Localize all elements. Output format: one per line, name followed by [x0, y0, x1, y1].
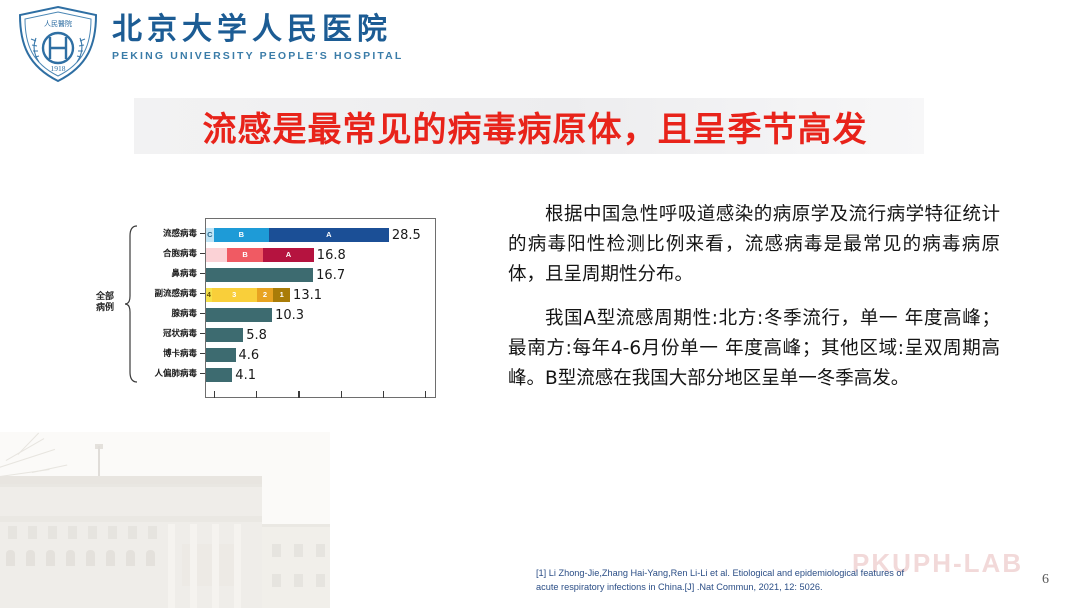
body-paragraph-2: 我国A型流感周期性:北方:冬季流行，单一 年度高峰；最南方:每年4-6月份单一 …: [508, 304, 1000, 394]
chart-bar-segment: B: [214, 228, 269, 242]
chart-bar: BA: [206, 248, 314, 262]
chart-bar: [206, 308, 272, 322]
chart-value-label: 5.8: [246, 328, 267, 343]
body-text-block: 根据中国急性呼吸道感染的病原学及流行病学特征统计的病毒阳性检测比例来看，流感病毒…: [508, 200, 1000, 394]
virus-positivity-bar-chart: 全部 病例 流感病毒 合胞病毒 鼻病毒 副流感病毒 腺病毒 冠状病毒 博卡病毒 …: [88, 218, 436, 406]
page-number: 6: [1042, 572, 1049, 588]
chart-bar-segment: A: [269, 228, 389, 242]
chart-axis-tick: [256, 391, 257, 398]
chart-bar: 4321: [206, 288, 290, 302]
hospital-wordmark: 北京大学人民医院 PEKING UNIVERSITY PEOPLE'S HOSP…: [112, 14, 412, 62]
chart-category-labels: 流感病毒 合胞病毒 鼻病毒 副流感病毒 腺病毒 冠状病毒 博卡病毒 人偏肺病毒: [138, 224, 200, 384]
chart-bar: CBA: [206, 228, 389, 242]
chart-bar-segment: B: [227, 248, 263, 262]
group-brace-icon: [124, 224, 138, 384]
chart-bar-segment: C: [206, 228, 214, 242]
chart-bar: [206, 348, 236, 362]
svg-text:1918: 1918: [51, 64, 66, 73]
chart-bar-segment: 2: [257, 288, 274, 302]
slide-canvas: 人民醫院 1918 北京大学人民医院 PEKING UNIVERSITY PEO…: [0, 0, 1080, 608]
chart-bar-row: BA16.8: [206, 245, 437, 265]
chart-axis-tick: [383, 391, 384, 398]
chart-bar-row: 16.7: [206, 265, 437, 285]
chart-category-label: 流感病毒: [138, 224, 200, 244]
chart-bar-segment: [206, 248, 227, 262]
chart-bar-segment: 1: [273, 288, 290, 302]
chart-x-axis-ticks: [206, 389, 437, 397]
chart-axis-tick: [214, 391, 215, 398]
chart-value-label: 4.6: [239, 348, 260, 363]
chart-bar-segment: [206, 328, 243, 342]
chart-axis-tick: [298, 391, 299, 398]
chart-group-label: 全部 病例: [88, 292, 122, 315]
chart-axis-tick: [341, 391, 342, 398]
chart-category-label: 副流感病毒: [138, 284, 200, 304]
chart-bar-segment: [206, 308, 272, 322]
svg-text:人民醫院: 人民醫院: [44, 19, 72, 28]
slide-header: 人民醫院 1918 北京大学人民医院 PEKING UNIVERSITY PEO…: [0, 0, 1080, 88]
chart-category-label: 合胞病毒: [138, 244, 200, 264]
chart-group-label-line1: 全部: [88, 292, 122, 303]
chart-value-label: 16.8: [317, 248, 346, 263]
hospital-name-en: PEKING UNIVERSITY PEOPLE'S HOSPITAL: [112, 50, 412, 62]
chart-bar-rows: CBA28.5BA16.816.7432113.110.35.84.64.1: [206, 225, 437, 385]
chart-bar-segment: [206, 268, 313, 282]
chart-axis-tick: [425, 391, 426, 398]
citation-line-1: [1] Li Zhong-Jie,Zhang Hai-Yang,Ren Li-L…: [536, 566, 981, 580]
chart-bar: [206, 368, 232, 382]
chart-value-label: 28.5: [392, 228, 421, 243]
chart-bar-segment: [206, 348, 236, 362]
chart-bar-segment: A: [263, 248, 314, 262]
chart-category-label: 腺病毒: [138, 304, 200, 324]
chart-bar-row: 10.3: [206, 305, 437, 325]
chart-bar-row: 5.8: [206, 325, 437, 345]
chart-value-label: 4.1: [235, 368, 256, 383]
hospital-name-cn: 北京大学人民医院: [112, 14, 412, 46]
pkuph-shield-logo-icon: 人民醫院 1918: [12, 4, 104, 84]
body-paragraph-1: 根据中国急性呼吸道感染的病原学及流行病学特征统计的病毒阳性检测比例来看，流感病毒…: [508, 200, 1000, 290]
historic-hospital-building-photo: [0, 432, 330, 608]
chart-bar-row: CBA28.5: [206, 225, 437, 245]
chart-group-label-line2: 病例: [88, 303, 122, 314]
chart-value-label: 10.3: [275, 308, 304, 323]
chart-category-label: 冠状病毒: [138, 324, 200, 344]
chart-value-label: 13.1: [293, 288, 322, 303]
chart-bar: [206, 268, 313, 282]
citation-reference: [1] Li Zhong-Jie,Zhang Hai-Yang,Ren Li-L…: [536, 566, 981, 595]
chart-plot-area: CBA28.5BA16.816.7432113.110.35.84.64.1: [205, 218, 436, 398]
citation-line-2: acute respiratory infections in China.[J…: [536, 580, 981, 594]
chart-bar-segment: [206, 368, 232, 382]
chart-bar-segment: 3: [212, 288, 257, 302]
chart-bar: [206, 328, 243, 342]
page-title: 流感是最常见的病毒病原体，且呈季节高发: [150, 100, 920, 152]
chart-category-label: 博卡病毒: [138, 344, 200, 364]
chart-bar-row: 4.6: [206, 345, 437, 365]
chart-bar-row: 4.1: [206, 365, 437, 385]
chart-category-label: 鼻病毒: [138, 264, 200, 284]
chart-category-label: 人偏肺病毒: [138, 364, 200, 384]
chart-value-label: 16.7: [316, 268, 345, 283]
chart-bar-row: 432113.1: [206, 285, 437, 305]
